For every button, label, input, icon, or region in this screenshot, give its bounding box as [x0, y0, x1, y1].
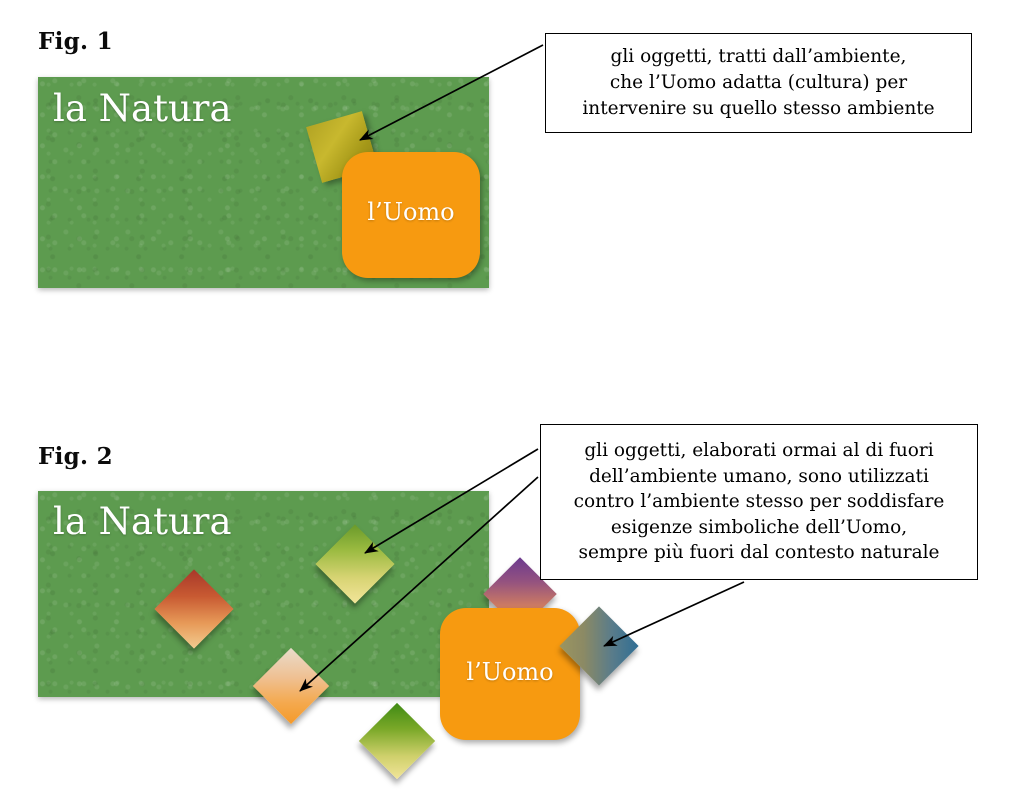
- fig2-human-label: l’Uomo: [466, 658, 553, 686]
- fig1-human-label: l’Uomo: [367, 198, 454, 226]
- fig1-nature-label: la Natura: [53, 87, 232, 130]
- diagram-canvas: Fig. 1 la Natura l’Uomo gli oggetti, tra…: [0, 0, 1024, 791]
- fig1-callout-line-3: intervenire su quello stesso ambiente: [582, 96, 934, 122]
- fig2-nature-label: la Natura: [53, 500, 232, 543]
- fig2-callout-line-5: sempre più fuori dal contesto naturale: [578, 540, 939, 566]
- fig1-callout: gli oggetti, tratti dall’ambiente, che l…: [545, 33, 972, 133]
- fig2-callout-line-1: gli oggetti, elaborati ormai al di fuori: [584, 438, 933, 464]
- fig1-callout-line-1: gli oggetti, tratti dall’ambiente,: [611, 44, 907, 70]
- fig1-label: Fig. 1: [38, 28, 113, 55]
- fig2-callout-line-3: contro l’ambiente stesso per soddisfare: [574, 489, 945, 515]
- fig2-callout-line-2: dell’ambiente umano, sono utilizzati: [589, 464, 929, 490]
- fig1-callout-line-2: che l’Uomo adatta (cultura) per: [610, 70, 907, 96]
- fig2-label: Fig. 2: [38, 443, 113, 470]
- fig2-callout: gli oggetti, elaborati ormai al di fuori…: [540, 424, 978, 580]
- fig1-human-box: l’Uomo: [342, 152, 480, 278]
- fig2-callout-line-4: esigenze simboliche dell’Uomo,: [611, 515, 907, 541]
- fig2-object-diamond-green: [359, 703, 435, 779]
- fig2-human-box: l’Uomo: [440, 608, 580, 740]
